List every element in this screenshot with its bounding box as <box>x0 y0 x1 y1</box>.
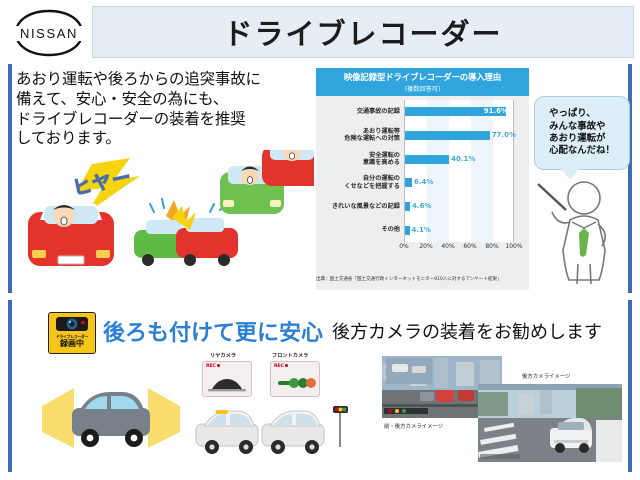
red-car-top-right <box>262 150 314 186</box>
chart-category-label: 安全運転の意識を高める <box>324 152 400 167</box>
chart-value-label: 40.1% <box>451 155 475 164</box>
chart-category-label: きれいな風景などの記録 <box>324 203 400 211</box>
chart-title-bar: 映像記録型ドライブレコーダーの導入理由 （複数回答可） <box>316 68 529 96</box>
lead-line-2: 備えて、安心・安全の為にも、 <box>16 90 316 110</box>
pointer-stick <box>538 184 566 210</box>
sticker-big-text: 録画中 <box>60 340 84 348</box>
chart-title: 映像記録型ドライブレコーダーの導入理由 <box>344 71 501 83</box>
lead-line-3: ドライブレコーダーの装着を推奨 <box>16 110 316 130</box>
lead-line-1: あおり運転や後ろからの追突事故に <box>16 70 316 90</box>
chart-subtitle: （複数回答可） <box>401 84 444 93</box>
white-car-right <box>262 411 324 454</box>
rear-cone <box>148 388 180 448</box>
chart-category-label: その他 <box>324 226 400 234</box>
white-car-left <box>196 410 258 454</box>
chart-category-label: 交通事故の記録 <box>324 108 400 116</box>
traffic-light-icon <box>333 406 348 447</box>
chart-bar <box>405 226 410 235</box>
bottom-headline-blue: 後ろも付けて更に安心 <box>103 315 323 347</box>
nissan-logo: NISSAN <box>8 7 90 59</box>
chart-source-note: 出典：国土交通省「国土交通行政インターネットモニター910人に対するアンケート結… <box>316 276 546 282</box>
chart-bar <box>405 155 449 164</box>
dashcam-icon <box>55 315 89 333</box>
chart-x-tick: 80% <box>485 243 498 250</box>
bubble-line-2: みんな事故や <box>549 121 615 133</box>
chart-x-tick: 40% <box>441 243 454 250</box>
slide-header: NISSAN ドライブレコーダー <box>0 0 640 62</box>
lead-line-4: しております。 <box>16 129 316 149</box>
front-camera-label: フロントカメラ <box>272 352 308 359</box>
chart-category-label: あおり運転等危険な運転への対策 <box>324 128 400 143</box>
bubble-line-4: 心配なんだね！ <box>549 145 615 157</box>
svg-text:NISSAN: NISSAN <box>20 26 78 41</box>
slide-title-bar: ドライブレコーダー <box>92 6 634 58</box>
chart-x-tick: 60% <box>463 243 476 250</box>
chart-x-tick: 0% <box>399 243 409 250</box>
two-cars-and-signal <box>190 398 350 464</box>
presenter-figure <box>532 172 632 290</box>
rec-indicator-rear: REC <box>206 364 220 369</box>
camera-modules-illustration: リヤカメラ フロントカメラ REC REC <box>190 352 350 462</box>
chart-category-label: 自分の運転のくせなどを把握する <box>324 175 400 190</box>
chart-value-label: 77.0% <box>492 131 516 140</box>
chart-bar <box>405 131 490 140</box>
chart-grid-band <box>471 100 493 242</box>
photo-caption-rear: 後方カメライメージ <box>522 372 570 380</box>
front-cone <box>42 388 74 448</box>
rec-indicator-front: REC <box>274 364 288 369</box>
bubble-line-1: やっぱり、 <box>549 108 615 120</box>
red-car-left <box>28 204 114 266</box>
bubble-line-3: あおり運転が <box>549 133 615 145</box>
chart-value-label: 6.4% <box>414 178 433 187</box>
tailgating-illustration: ヒヤー <box>14 150 314 290</box>
slide-root: NISSAN ドライブレコーダー あおり運転や後ろからの追突事故に 備えて、安心… <box>0 0 640 480</box>
recording-sticker: ドライブレコーダー 録画中 <box>48 312 96 354</box>
chart-value-label: 4.1% <box>412 226 431 235</box>
chart-x-axis: 0%20%40%60%80%100% <box>404 243 514 255</box>
chart-bar <box>405 178 412 187</box>
chart-x-tick: 20% <box>419 243 432 250</box>
chart-value-label: 91.6% <box>484 107 508 116</box>
car-camera-coverage-illustration <box>30 372 195 462</box>
chart-value-label: 4.6% <box>412 202 431 211</box>
page-title: ドライブレコーダー <box>223 11 502 53</box>
speech-bubble: やっぱり、 みんな事故や あおり運転が 心配なんだね！ <box>534 96 630 170</box>
chart-category-labels: 交通事故の記録あおり運転等危険な運転への対策安全運転の意識を高める自分の運転のく… <box>324 100 402 242</box>
chart-plot-area: 交通事故の記録あおり運転等危険な運転への対策安全運転の意識を高める自分の運転のく… <box>324 100 521 260</box>
photo-caption-front-rear: 前・後方カメライメージ <box>384 422 443 430</box>
survey-chart-card: 映像記録型ドライブレコーダーの導入理由 （複数回答可） 交通事故の記録あおり運転… <box>316 68 529 290</box>
front-camera-card: REC <box>270 361 320 397</box>
camera-image-samples: 前・後方カメライメージ <box>382 356 622 464</box>
rear-camera-card: REC <box>202 361 252 397</box>
chart-bar <box>405 202 410 211</box>
chart-bars: 91.6%77.0%40.1%6.4%4.6%4.1% <box>404 100 514 242</box>
chart-grid-band <box>427 100 449 242</box>
rear-camera-label: リヤカメラ <box>210 352 236 359</box>
bottom-headline-black: 後方カメラの装着をお勧めします <box>332 318 602 344</box>
rear-camera-photo <box>478 384 622 462</box>
chart-x-tick: 100% <box>505 243 522 250</box>
lead-text: あおり運転や後ろからの追突事故に 備えて、安心・安全の為にも、 ドライブレコーダ… <box>16 70 316 149</box>
